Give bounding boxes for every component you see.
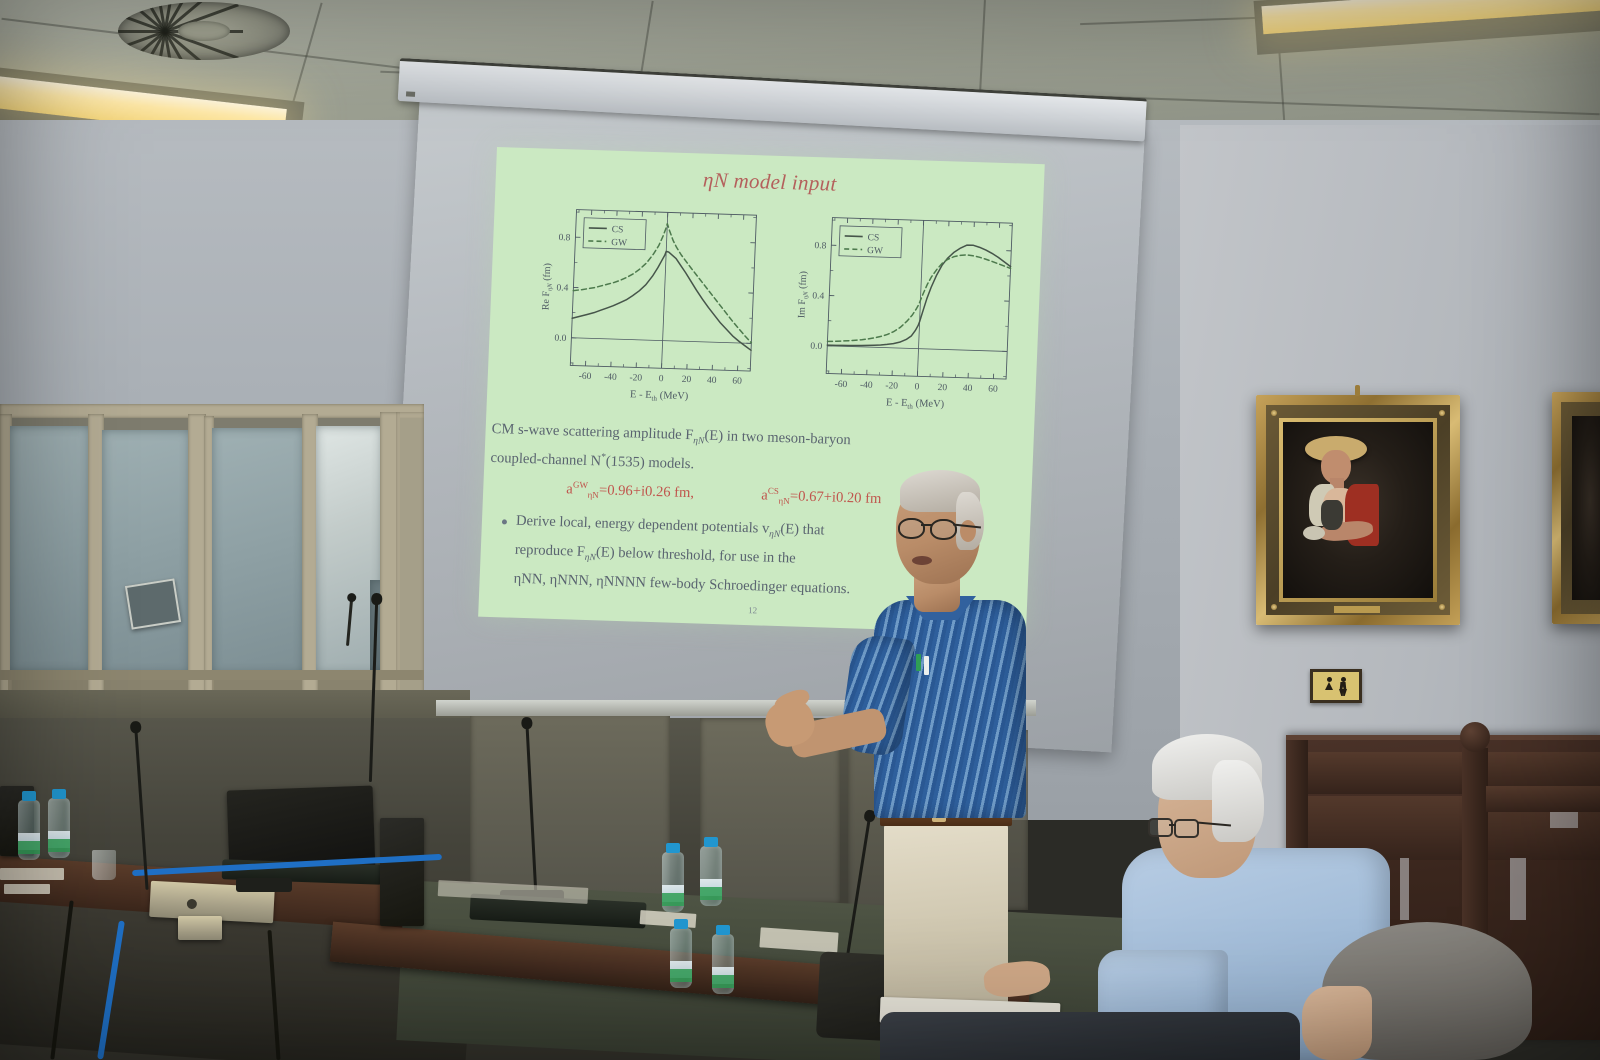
- svg-text:-60: -60: [834, 380, 847, 390]
- paper-stack-left-2: [4, 884, 50, 894]
- svg-text:40: 40: [963, 384, 973, 394]
- water-bottle-2: [48, 798, 70, 858]
- bullet-sub-etaN-1: ηN: [769, 530, 780, 540]
- formula-gw-sub: ηN: [587, 490, 599, 500]
- slide-bullet-line-2: reproduce FηN(E) below threshold, for us…: [514, 540, 796, 572]
- av-control-bracket: [178, 916, 222, 940]
- female-pictogram-icon: [1325, 677, 1334, 695]
- svg-text:Im FηN (fm): Im FηN (fm): [796, 271, 810, 318]
- bottle-cap-1: [22, 791, 36, 801]
- attendee-lens-left: [1148, 818, 1173, 837]
- svg-text:CS: CS: [612, 225, 624, 235]
- plastic-cup: [92, 850, 116, 880]
- svg-text:E - Eth (MeV): E - Eth (MeV): [886, 397, 945, 411]
- slide-title-text: ηN model input: [703, 167, 838, 195]
- svg-text:GW: GW: [867, 246, 883, 256]
- wall-wood-panel-a: [470, 712, 670, 902]
- svg-text:GW: GW: [611, 238, 627, 248]
- svg-text:0: 0: [659, 374, 664, 384]
- slide-bullet-line-3: ηNN, ηNNN, ηNNNN few-body Schroedinger e…: [513, 569, 850, 600]
- water-bottle-4: [700, 846, 722, 906]
- svg-text:CS: CS: [867, 233, 879, 243]
- charts-row: -60-40-2002040600.00.40.8CSGWE - Eth (Me…: [516, 192, 1021, 431]
- water-bottle-1: [18, 800, 40, 860]
- svg-text:0.4: 0.4: [556, 283, 569, 293]
- svg-text:-20: -20: [885, 381, 898, 391]
- slide-bullet-line-1: Derive local, energy dependent potential…: [515, 511, 824, 544]
- svg-text:0.4: 0.4: [812, 291, 825, 301]
- svg-text:0.8: 0.8: [558, 233, 571, 243]
- presenter-pen-green: [916, 654, 921, 671]
- framed-painting-secondary: [1552, 392, 1600, 624]
- formula-cs-sub: ηN: [778, 496, 790, 506]
- painting-plaque: [1334, 606, 1380, 613]
- caption-sub-etaN: ηN: [693, 436, 704, 446]
- formula-gw-sup: GW: [573, 480, 588, 490]
- svg-text:-60: -60: [579, 372, 592, 382]
- svg-text:-40: -40: [860, 381, 873, 391]
- painting-hook: [1355, 385, 1360, 396]
- svg-text:60: 60: [732, 377, 742, 387]
- svg-text:0.0: 0.0: [810, 342, 823, 352]
- attendee-foreground-face: [1302, 986, 1372, 1060]
- housing-knob: [406, 91, 415, 96]
- painting-bowl: [1303, 526, 1325, 540]
- svg-text:0.0: 0.0: [554, 334, 567, 344]
- presenter-glasses: [898, 518, 982, 538]
- svg-text:0.8: 0.8: [814, 241, 827, 251]
- bullet-sub-etaN-2: ηN: [584, 553, 595, 563]
- svg-text:0: 0: [914, 382, 919, 392]
- bottle-cap-2: [52, 789, 66, 799]
- bottle-cap-4: [704, 837, 718, 847]
- svg-text:20: 20: [937, 383, 947, 393]
- svg-text:-20: -20: [629, 373, 642, 383]
- water-bottle-6: [712, 934, 734, 994]
- svg-text:-40: -40: [604, 372, 617, 382]
- booth-monitor: [125, 578, 181, 629]
- air-vent-icon: [118, 2, 290, 60]
- attendee-glasses: [1148, 818, 1232, 836]
- attendee-lens-right: [1174, 819, 1199, 838]
- conference-room-photo: ηN model input -60-40-2002040600.00.40.8…: [0, 0, 1600, 1060]
- svg-text:40: 40: [707, 376, 717, 386]
- chart-im-f-etaN: -60-40-2002040600.00.40.8CSGWE - Eth (Me…: [772, 200, 1021, 431]
- presenter-pen-white: [924, 656, 929, 675]
- svg-text:Re FηN (fm): Re FηN (fm): [540, 263, 554, 310]
- presenter-mouth: [912, 556, 932, 565]
- painting-jug: [1321, 500, 1343, 530]
- bottle-cap-5: [674, 919, 688, 929]
- attendee-foreground-body: [880, 1012, 1300, 1060]
- glass-partition-booth: [0, 404, 424, 722]
- microphone-base-left: [236, 878, 292, 892]
- formula-cs: aCSηN=0.67+i0.20 fm: [761, 485, 882, 509]
- svg-text:60: 60: [988, 385, 998, 395]
- presenter-lens-left: [898, 518, 925, 539]
- formula-cs-sup: CS: [768, 486, 779, 496]
- framed-painting-main: [1256, 395, 1460, 625]
- bench-finial: [1460, 722, 1490, 752]
- av-control-knob[interactable]: [187, 899, 198, 910]
- formula-gw: aGWηN=0.96+i0.26 fm,: [566, 479, 695, 503]
- bottle-cap-3: [666, 843, 680, 853]
- bottle-cap-6: [716, 925, 730, 935]
- water-bottle-5: [670, 928, 692, 988]
- presenter-lens-right: [930, 519, 957, 540]
- water-bottle-3: [662, 852, 684, 912]
- restroom-sign: [1310, 669, 1362, 703]
- svg-text:E - Eth (MeV): E - Eth (MeV): [630, 389, 689, 403]
- paper-stack-left: [0, 868, 64, 880]
- male-pictogram-icon: [1339, 677, 1348, 695]
- bullet-point-marker: [502, 519, 507, 524]
- speaker-right-desk: [380, 818, 424, 926]
- svg-text:20: 20: [681, 375, 691, 385]
- chart-re-f-etaN: -60-40-2002040600.00.40.8CSGWE - Eth (Me…: [516, 192, 765, 423]
- slide-caption-line-2: coupled-channel N*(1535) models.: [490, 448, 694, 475]
